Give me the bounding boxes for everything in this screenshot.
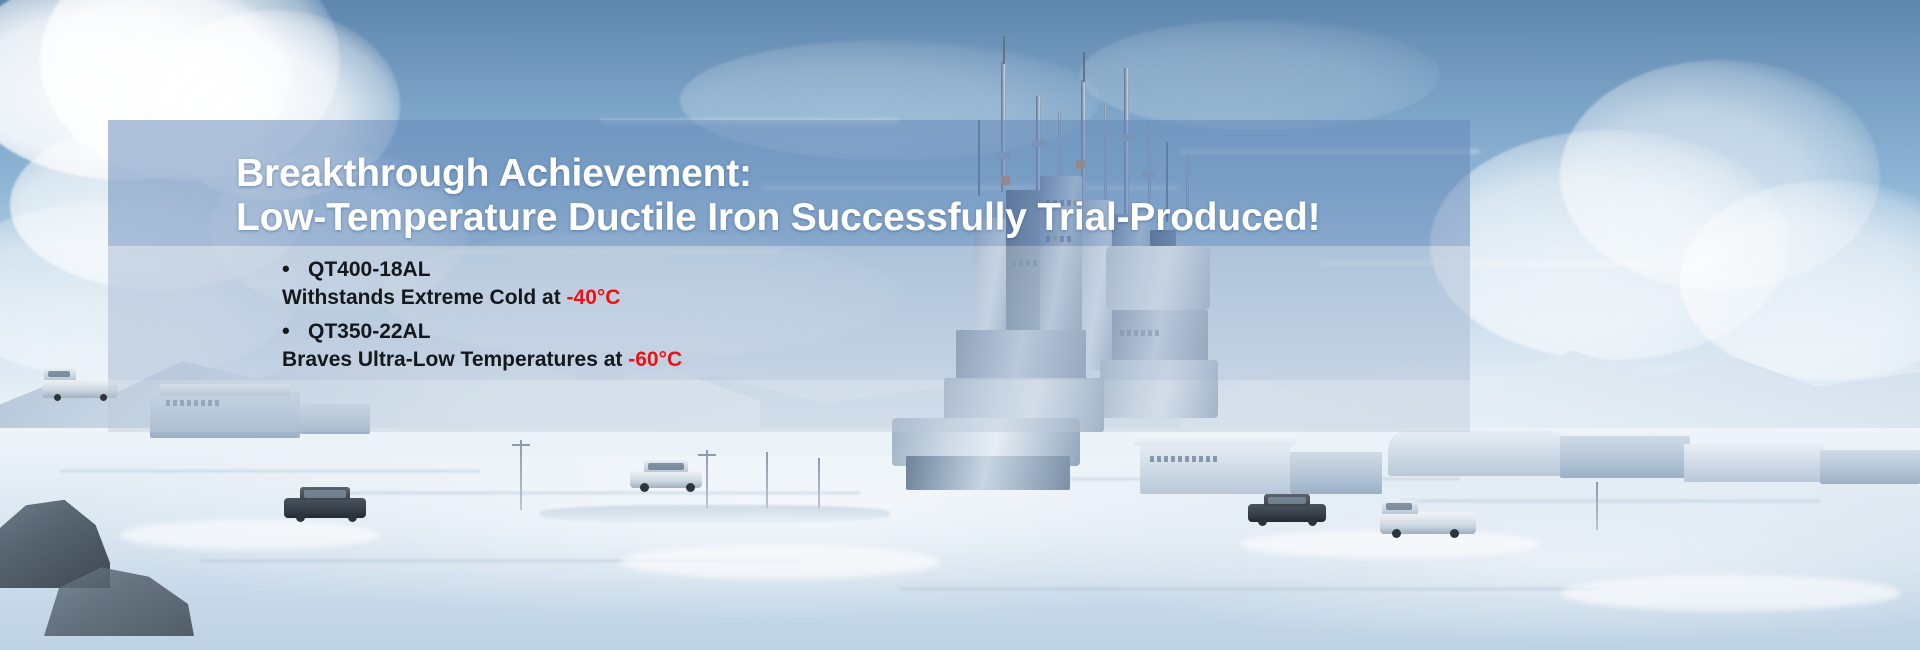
wheel <box>686 483 695 492</box>
page-title: Breakthrough Achievement: Low-Temperatur… <box>236 155 1476 237</box>
headline-line-1: Breakthrough Achievement: <box>236 155 1476 193</box>
suv-window <box>648 463 684 470</box>
bullet-description: Braves Ultra-Low Temperatures at -60°C <box>282 346 682 373</box>
window <box>1178 456 1182 462</box>
snow-ridge <box>1400 500 1820 502</box>
wheel <box>296 513 305 522</box>
suv-window <box>304 490 346 498</box>
window <box>1157 456 1161 462</box>
truck-window <box>1386 503 1412 510</box>
utility-pole <box>818 458 820 508</box>
utility-pole <box>520 440 522 510</box>
utility-pole <box>706 450 708 508</box>
wheel <box>640 483 649 492</box>
wheel <box>100 394 107 401</box>
snow-drift <box>1560 575 1900 611</box>
material-grade-label: QT350-22AL <box>308 319 431 345</box>
bullet-marker-icon: • <box>282 256 308 282</box>
warehouse-annex <box>1684 444 1824 482</box>
snow-road <box>540 505 890 523</box>
window <box>1199 456 1203 462</box>
depot-building <box>1140 442 1290 494</box>
bullet-description: Withstands Extreme Cold at -40°C <box>282 284 620 311</box>
wheel <box>1392 529 1401 538</box>
cloud-puff <box>1080 20 1440 130</box>
wheel <box>1450 529 1459 538</box>
utility-pole-arm <box>698 454 716 456</box>
bullet-description-text: Braves Ultra-Low Temperatures at <box>282 348 622 371</box>
snow-drift <box>1240 530 1540 558</box>
snow-drift <box>620 545 940 579</box>
snow-ridge <box>60 470 480 472</box>
sedan-window <box>1268 497 1306 504</box>
bullet-description-text: Withstands Extreme Cold at <box>282 286 561 309</box>
wheel <box>1308 517 1317 526</box>
temperature-value: -40°C <box>567 286 621 309</box>
window <box>1213 456 1217 462</box>
warehouse-end <box>1820 450 1920 484</box>
snow-ridge <box>900 588 1600 590</box>
storage-tank <box>1388 430 1568 476</box>
utility-pole-arm <box>512 444 530 446</box>
depot-roof <box>1134 434 1296 446</box>
utility-pole <box>1596 482 1598 530</box>
bullet-heading: • QT350-22AL <box>282 318 682 345</box>
wheel <box>1258 517 1267 526</box>
window <box>1206 456 1210 462</box>
warehouse <box>1560 436 1690 478</box>
bullet-heading: • QT400-18AL <box>282 256 620 283</box>
hangar-body <box>906 456 1070 490</box>
snow-ridge <box>340 492 860 494</box>
material-grade-label: QT400-18AL <box>308 257 431 283</box>
depot-windows <box>1150 456 1280 462</box>
bullet-marker-icon: • <box>282 318 308 344</box>
snow-drift <box>120 520 380 550</box>
wheel <box>348 513 357 522</box>
promo-banner: Breakthrough Achievement: Low-Temperatur… <box>0 0 1920 650</box>
antenna-tip <box>1003 36 1005 64</box>
window <box>1192 456 1196 462</box>
wheel <box>54 394 61 401</box>
window <box>1171 456 1175 462</box>
window <box>1150 456 1154 462</box>
window <box>1164 456 1168 462</box>
bullet-panel-secondary <box>108 380 1470 432</box>
utility-pole <box>766 452 768 508</box>
window <box>1185 456 1189 462</box>
product-highlight-1: • QT400-18AL Withstands Extreme Cold at … <box>282 256 620 311</box>
truck-window <box>48 371 70 377</box>
antenna-tip <box>1083 52 1085 82</box>
headline-line-2: Low-Temperature Ductile Iron Successfull… <box>236 199 1476 237</box>
depot-annex <box>1290 452 1382 494</box>
temperature-value: -60°C <box>628 348 682 371</box>
product-highlight-2: • QT350-22AL Braves Ultra-Low Temperatur… <box>282 318 682 373</box>
